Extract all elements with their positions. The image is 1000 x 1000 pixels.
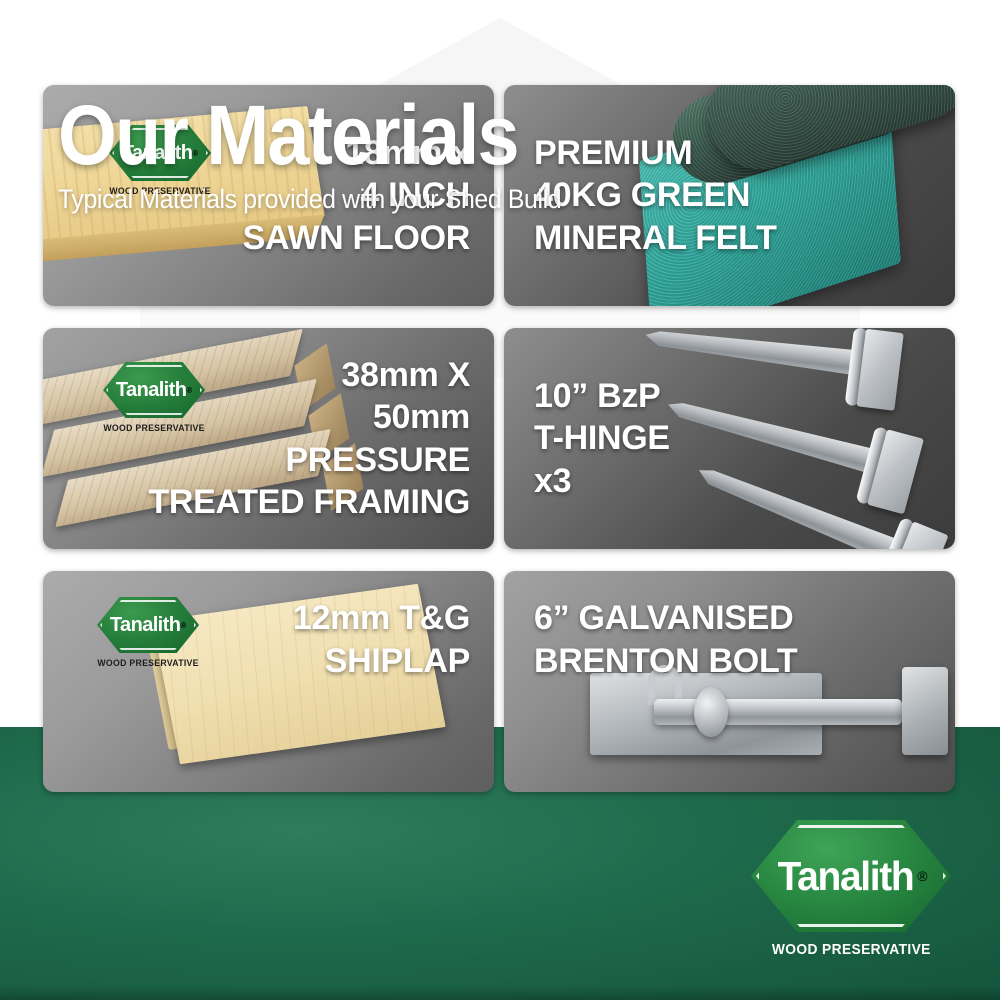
tanalith-badge: Tanalith® WOOD PRESERVATIVE — [99, 362, 209, 434]
hinge-plate — [857, 329, 904, 411]
tanalith-hex-icon: Tanalith® — [103, 362, 205, 418]
bolt-knob — [694, 687, 728, 737]
registered-mark-large: ® — [917, 868, 927, 884]
tanalith-hex-icon: Tanalith® — [97, 597, 199, 653]
hinge-knuckle — [873, 517, 915, 549]
material-card-shiplap[interactable]: Tanalith® WOOD PRESERVATIVE 12mm T&G SHI… — [43, 571, 494, 792]
banner-text-block: Our Materials Typical Materials provided… — [58, 96, 605, 215]
material-card-framing[interactable]: Tanalith® WOOD PRESERVATIVE 38mm X 50mm … — [43, 328, 494, 549]
material-card-brenton-bolt[interactable]: 6” GALVANISED BRENTON BOLT — [504, 571, 955, 792]
bolt-shaft — [654, 699, 902, 725]
material-card-t-hinge[interactable]: 10” BzP T-HINGE x3 — [504, 328, 955, 549]
tanalith-logo-large: Tanalith® WOOD PRESERVATIVE — [746, 820, 956, 958]
tanalith-tagline: WOOD PRESERVATIVE — [97, 658, 198, 669]
tanalith-wordmark: Tanalith — [116, 380, 186, 400]
page-subtitle: Typical Materials provided with your She… — [58, 184, 561, 215]
card-label-brenton-bolt: 6” GALVANISED BRENTON BOLT — [504, 597, 797, 682]
registered-mark: ® — [186, 386, 192, 395]
hinge-strap — [644, 328, 875, 378]
hinge-strap — [664, 394, 893, 479]
tanalith-wordmark: Tanalith — [110, 615, 180, 635]
hinge-knuckle — [855, 426, 889, 505]
tanalith-badge: Tanalith® WOOD PRESERVATIVE — [93, 597, 203, 669]
bolt-backplate — [590, 673, 822, 755]
tanalith-hex-icon-large: Tanalith® — [751, 820, 951, 932]
hinge-strap — [693, 460, 916, 549]
tanalith-wordmark-large: Tanalith — [778, 856, 914, 897]
card-label-t-hinge: 10” BzP T-HINGE x3 — [504, 375, 670, 503]
registered-mark: ® — [180, 621, 186, 630]
bolt-keeper — [902, 667, 948, 755]
hinge-plate — [867, 429, 924, 514]
tanalith-tagline: WOOD PRESERVATIVE — [103, 423, 204, 434]
page-title: Our Materials — [58, 96, 550, 176]
tanalith-tagline-large: WOOD PRESERVATIVE — [772, 941, 931, 958]
t-hinges-image — [631, 328, 955, 549]
card-label-shiplap: 12mm T&G SHIPLAP — [293, 597, 494, 682]
hinge-plate — [884, 521, 948, 549]
hinge-knuckle — [845, 328, 868, 406]
